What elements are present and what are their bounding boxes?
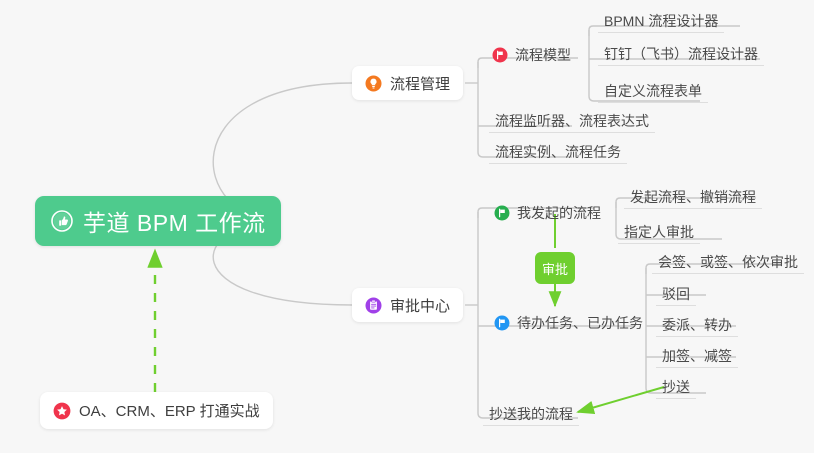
leaf-countersign-orsign-sequential[interactable]: 会签、或签、依次审批 (652, 246, 804, 274)
star-icon (53, 402, 71, 420)
leaf-assignee-approval[interactable]: 指定人审批 (618, 216, 700, 244)
lightbulb-icon (365, 75, 382, 92)
root-node[interactable]: 芋道 BPM 工作流 (35, 196, 281, 246)
footnote-node[interactable]: OA、CRM、ERP 打通实战 (40, 392, 273, 429)
mindmap-canvas: 芋道 BPM 工作流 流程管理 流程模型 BPMN 流程设计器 钉钉（飞书）流程 (0, 0, 814, 453)
leaf-label: 驳回 (662, 286, 690, 303)
leaf-label: 指定人审批 (624, 224, 694, 241)
approval-tag[interactable]: 审批 (535, 252, 575, 284)
footnote-label: OA、CRM、ERP 打通实战 (79, 400, 260, 421)
leaf-add-remove-sign[interactable]: 加签、减签 (656, 340, 738, 368)
branch-label: 审批中心 (390, 295, 450, 316)
leaf-cc-to-me-process[interactable]: 抄送我的流程 (483, 398, 579, 426)
thumbs-up-icon (51, 210, 73, 232)
leaf-bpmn-designer[interactable]: BPMN 流程设计器 (598, 5, 724, 33)
leaf-cc[interactable]: 抄送 (656, 371, 696, 399)
leaf-delegate-transfer[interactable]: 委派、转办 (656, 309, 738, 337)
flag-icon (494, 205, 510, 221)
leaf-label: 流程监听器、流程表达式 (495, 113, 649, 130)
leaf-label: 自定义流程表单 (604, 83, 702, 100)
node-label: 我发起的流程 (517, 203, 601, 223)
leaf-label: 钉钉（飞书）流程设计器 (604, 46, 758, 63)
branch-label: 流程管理 (390, 73, 450, 94)
leaf-process-listener-expression[interactable]: 流程监听器、流程表达式 (489, 105, 655, 133)
leaf-process-instance-task[interactable]: 流程实例、流程任务 (489, 136, 627, 164)
flag-icon (492, 47, 508, 63)
flag-icon (494, 315, 510, 331)
root-label: 芋道 BPM 工作流 (83, 204, 266, 238)
leaf-label: 发起流程、撤销流程 (630, 189, 756, 206)
node-todo-done-tasks[interactable]: 待办任务、已办任务 (494, 312, 643, 334)
leaf-label: 会签、或签、依次审批 (658, 254, 798, 271)
arrow-cc-to-ccme (578, 387, 664, 412)
leaf-label: BPMN 流程设计器 (604, 13, 718, 30)
leaf-label: 流程实例、流程任务 (495, 144, 621, 161)
leaf-custom-process-form[interactable]: 自定义流程表单 (598, 75, 708, 103)
leaf-label: 委派、转办 (662, 317, 732, 334)
leaf-reject[interactable]: 驳回 (656, 278, 696, 306)
clipboard-icon (365, 297, 382, 314)
branch-process-management[interactable]: 流程管理 (352, 66, 463, 100)
node-my-initiated-process[interactable]: 我发起的流程 (494, 202, 601, 224)
leaf-label: 抄送 (662, 379, 690, 396)
approval-tag-label: 审批 (542, 259, 568, 278)
node-label: 待办任务、已办任务 (517, 313, 643, 333)
leaf-start-cancel-process[interactable]: 发起流程、撤销流程 (624, 181, 762, 209)
branch-approval-center[interactable]: 审批中心 (352, 288, 463, 322)
leaf-dingtalk-feishu-designer[interactable]: 钉钉（飞书）流程设计器 (598, 38, 764, 66)
leaf-label: 抄送我的流程 (489, 406, 573, 423)
node-label: 流程模型 (515, 45, 571, 65)
leaf-label: 加签、减签 (662, 348, 732, 365)
node-process-model[interactable]: 流程模型 (492, 44, 571, 66)
